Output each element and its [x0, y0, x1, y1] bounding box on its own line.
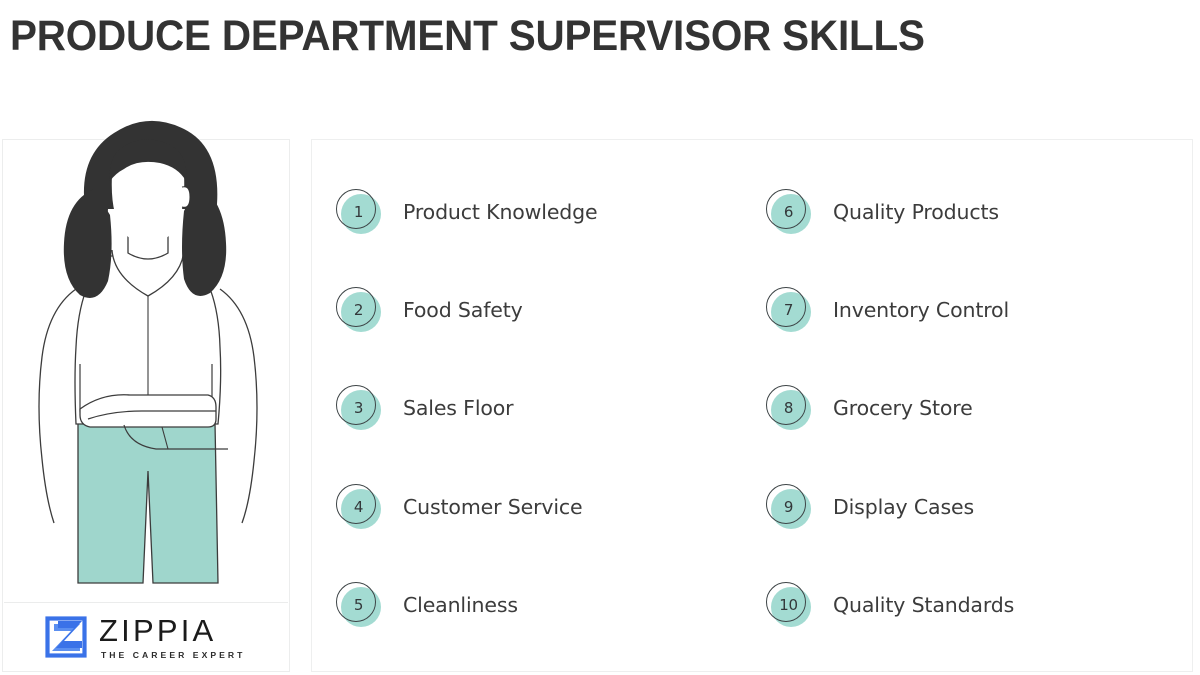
badge-number: 9	[766, 484, 811, 529]
skill-label: Food Safety	[403, 298, 523, 322]
skill-item-1[interactable]: 1 Product Knowledge	[336, 189, 598, 235]
skill-item-8[interactable]: 8 Grocery Store	[766, 385, 973, 431]
badge-number: 7	[766, 287, 811, 332]
skill-number-badge: 3	[336, 385, 382, 431]
skill-number-badge: 5	[336, 582, 382, 628]
skill-label: Quality Products	[833, 200, 999, 224]
zippia-logo[interactable]: ZIPPIA THE CAREER EXPERT	[44, 614, 245, 660]
badge-number: 5	[336, 582, 381, 627]
skill-number-badge: 7	[766, 287, 812, 333]
skill-item-3[interactable]: 3 Sales Floor	[336, 385, 513, 431]
skills-panel: 1 Product Knowledge 2 Food Safety 3 S	[311, 139, 1193, 672]
logo-divider	[4, 602, 288, 603]
skill-label: Display Cases	[833, 495, 974, 519]
skill-label: Quality Standards	[833, 593, 1014, 617]
skill-item-4[interactable]: 4 Customer Service	[336, 484, 582, 530]
badge-number: 2	[336, 287, 381, 332]
badge-number: 8	[766, 385, 811, 430]
badge-number: 4	[336, 484, 381, 529]
supervisor-illustration	[2, 119, 290, 583]
skills-columns: 1 Product Knowledge 2 Food Safety 3 S	[312, 140, 1192, 671]
skill-item-9[interactable]: 9 Display Cases	[766, 484, 974, 530]
skill-number-badge: 8	[766, 385, 812, 431]
zippia-z-mark	[44, 615, 88, 659]
zippia-wordmark: ZIPPIA	[99, 615, 245, 646]
skill-number-badge: 10	[766, 582, 812, 628]
skill-item-6[interactable]: 6 Quality Products	[766, 189, 999, 235]
skill-number-badge: 1	[336, 189, 382, 235]
skill-number-badge: 2	[336, 287, 382, 333]
skill-item-10[interactable]: 10 Quality Standards	[766, 582, 1014, 628]
skill-label: Sales Floor	[403, 396, 513, 420]
skill-label: Grocery Store	[833, 396, 973, 420]
badge-number: 3	[336, 385, 381, 430]
badge-number: 6	[766, 189, 811, 234]
skill-label: Cleanliness	[403, 593, 518, 617]
badge-number: 10	[766, 582, 811, 627]
skill-label: Customer Service	[403, 495, 582, 519]
skill-item-7[interactable]: 7 Inventory Control	[766, 287, 1009, 333]
skill-number-badge: 9	[766, 484, 812, 530]
skill-number-badge: 6	[766, 189, 812, 235]
skill-item-2[interactable]: 2 Food Safety	[336, 287, 523, 333]
skill-number-badge: 4	[336, 484, 382, 530]
badge-number: 1	[336, 189, 381, 234]
skill-item-5[interactable]: 5 Cleanliness	[336, 582, 518, 628]
skills-column-right: 6 Quality Products 7 Inventory Control 8	[766, 140, 1196, 671]
zippia-tagline: THE CAREER EXPERT	[101, 651, 245, 660]
page-title: PRODUCE DEPARTMENT SUPERVISOR SKILLS	[10, 12, 1044, 61]
illustration-panel	[2, 139, 290, 672]
skill-label: Product Knowledge	[403, 200, 598, 224]
skills-column-left: 1 Product Knowledge 2 Food Safety 3 S	[336, 140, 766, 671]
zippia-logo-text: ZIPPIA THE CAREER EXPERT	[99, 614, 245, 660]
skill-label: Inventory Control	[833, 298, 1009, 322]
